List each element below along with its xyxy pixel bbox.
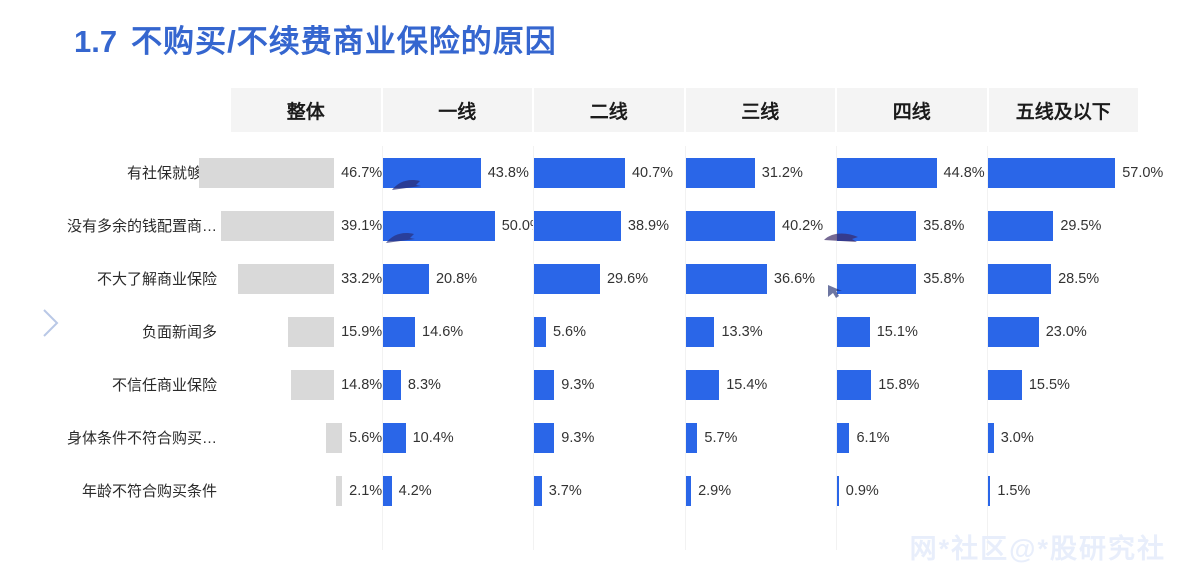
bar-tier [382, 211, 495, 241]
bar-value-label: 23.0% [1046, 324, 1087, 340]
bar-tier [685, 370, 720, 400]
bar-value-label: 9.3% [561, 377, 594, 393]
bar-overall [199, 158, 334, 188]
bar-value-label: 15.9% [341, 324, 382, 340]
bar-tier [836, 423, 850, 453]
chart-row: 年龄不符合购买条件2.1%4.2%3.7%2.9%0.9%1.5% [0, 464, 1182, 517]
column-separator [836, 146, 837, 550]
bar-tier [836, 211, 917, 241]
chart-row: 有社保就够了46.7%43.8%40.7%31.2%44.8%57.0% [0, 146, 1182, 199]
bar-value-label: 1.5% [997, 483, 1030, 499]
page-title: 1.7不购买/不续费商业保险的原因 [74, 16, 557, 61]
bar-tier [685, 211, 775, 241]
row-cells: 46.7%43.8%40.7%31.2%44.8%57.0% [231, 146, 1182, 199]
chart-cell: 2.1% [231, 464, 382, 517]
bar-value-label: 29.6% [607, 271, 648, 287]
bar-tier [836, 317, 870, 347]
chart-cell: 20.8% [382, 252, 533, 305]
chart-rows: 有社保就够了46.7%43.8%40.7%31.2%44.8%57.0%没有多余… [0, 146, 1182, 550]
chart-cell: 44.8% [836, 146, 987, 199]
row-label: 不信任商业保险 [0, 374, 231, 395]
row-cells: 2.1%4.2%3.7%2.9%0.9%1.5% [231, 464, 1182, 517]
row-label: 身体条件不符合购买… [0, 427, 231, 448]
bar-value-label: 28.5% [1058, 271, 1099, 287]
bar-value-label: 0.9% [846, 483, 879, 499]
row-label: 负面新闻多 [0, 321, 231, 342]
column-separator [533, 146, 534, 550]
row-cells: 15.9%14.6%5.6%13.3%15.1%23.0% [231, 305, 1182, 358]
chart-cell: 14.8% [231, 358, 382, 411]
chart-cell: 31.2% [685, 146, 836, 199]
bar-tier [836, 264, 917, 294]
bar-tier [382, 264, 429, 294]
row-cells: 14.8%8.3%9.3%15.4%15.8%15.5% [231, 358, 1182, 411]
bar-tier [987, 211, 1053, 241]
chart-cell: 4.2% [382, 464, 533, 517]
bar-value-label: 35.8% [923, 271, 964, 287]
bar-tier [382, 423, 405, 453]
chart-cell: 50.0% [382, 199, 533, 252]
watermark: 网*社区@*股研究社 [910, 527, 1166, 566]
chart-cell: 29.6% [533, 252, 684, 305]
column-separator [382, 146, 383, 550]
chart-cell: 15.8% [836, 358, 987, 411]
bar-value-label: 36.6% [774, 271, 815, 287]
bar-tier [987, 264, 1051, 294]
chart-cell: 35.8% [836, 252, 987, 305]
chart-cell: 38.9% [533, 199, 684, 252]
chart-row: 不大了解商业保险33.2%20.8%29.6%36.6%35.8%28.5% [0, 252, 1182, 305]
bar-value-label: 2.1% [349, 483, 382, 499]
row-cells: 5.6%10.4%9.3%5.7%6.1%3.0% [231, 411, 1182, 464]
chart-cell: 5.7% [685, 411, 836, 464]
bar-value-label: 9.3% [561, 430, 594, 446]
chart-cell: 9.3% [533, 358, 684, 411]
chart-cell: 15.1% [836, 305, 987, 358]
chart-cell: 3.0% [987, 411, 1138, 464]
bar-value-label: 35.8% [923, 218, 964, 234]
chart-cell: 6.1% [836, 411, 987, 464]
chart-row: 不信任商业保险14.8%8.3%9.3%15.4%15.8%15.5% [0, 358, 1182, 411]
chart-cell: 23.0% [987, 305, 1138, 358]
bar-value-label: 14.6% [422, 324, 463, 340]
bar-tier [533, 211, 621, 241]
bar-value-label: 6.1% [856, 430, 889, 446]
page-title-number: 1.7 [74, 24, 117, 59]
bar-overall [288, 317, 334, 347]
row-cells: 33.2%20.8%29.6%36.6%35.8%28.5% [231, 252, 1182, 305]
chart-cell: 35.8% [836, 199, 987, 252]
bar-value-label: 40.2% [782, 218, 823, 234]
chart-cell: 13.3% [685, 305, 836, 358]
bar-value-label: 57.0% [1122, 165, 1163, 181]
bar-value-label: 15.8% [878, 377, 919, 393]
chart-row: 没有多余的钱配置商…39.1%50.0%38.9%40.2%35.8%29.5% [0, 199, 1182, 252]
column-header-overall: 整体 [231, 88, 383, 132]
chart-cell: 15.5% [987, 358, 1138, 411]
bar-tier [382, 158, 481, 188]
row-cells: 39.1%50.0%38.9%40.2%35.8%29.5% [231, 199, 1182, 252]
chart-cell: 3.7% [533, 464, 684, 517]
bar-value-label: 40.7% [632, 165, 673, 181]
bar-value-label: 15.4% [726, 377, 767, 393]
bar-value-label: 3.7% [549, 483, 582, 499]
chart-cell: 46.7% [231, 146, 382, 199]
chart-cell: 57.0% [987, 146, 1138, 199]
bar-value-label: 10.4% [413, 430, 454, 446]
bar-tier [382, 370, 401, 400]
bar-tier [533, 423, 554, 453]
bar-value-label: 14.8% [341, 377, 382, 393]
bar-tier [382, 476, 391, 506]
column-header-tier1: 一线 [383, 88, 535, 132]
bar-tier [685, 317, 715, 347]
bar-overall [326, 423, 342, 453]
bar-tier [987, 317, 1039, 347]
bar-tier [836, 158, 937, 188]
bar-value-label: 15.5% [1029, 377, 1070, 393]
bar-value-label: 44.8% [944, 165, 985, 181]
chart-cell: 36.6% [685, 252, 836, 305]
chart-cell: 29.5% [987, 199, 1138, 252]
chart-cell: 5.6% [231, 411, 382, 464]
chart-cell: 40.2% [685, 199, 836, 252]
bar-value-label: 38.9% [628, 218, 669, 234]
chart-cell: 40.7% [533, 146, 684, 199]
column-header-tier4: 四线 [837, 88, 989, 132]
bar-value-label: 2.9% [698, 483, 731, 499]
chart-cell: 8.3% [382, 358, 533, 411]
bar-value-label: 43.8% [488, 165, 529, 181]
bar-overall [336, 476, 342, 506]
column-separator [987, 146, 988, 550]
bar-value-label: 5.6% [553, 324, 586, 340]
bar-tier [533, 476, 541, 506]
bar-value-label: 5.6% [349, 430, 382, 446]
bar-value-label: 39.1% [341, 218, 382, 234]
column-header-tier3: 三线 [686, 88, 838, 132]
bar-tier [382, 317, 415, 347]
bar-tier [987, 158, 1115, 188]
chart-cell: 0.9% [836, 464, 987, 517]
bar-tier [533, 264, 600, 294]
bar-overall [291, 370, 334, 400]
bar-tier [836, 370, 872, 400]
bar-value-label: 15.1% [877, 324, 918, 340]
row-label: 年龄不符合购买条件 [0, 480, 231, 501]
bar-value-label: 5.7% [704, 430, 737, 446]
bar-value-label: 31.2% [762, 165, 803, 181]
bar-value-label: 13.3% [721, 324, 762, 340]
chart-cell: 5.6% [533, 305, 684, 358]
chart-cell: 9.3% [533, 411, 684, 464]
bar-overall [238, 264, 334, 294]
bar-value-label: 33.2% [341, 271, 382, 287]
bar-tier [533, 317, 546, 347]
chart-column-headers: 整体 一线 二线 三线 四线 五线及以下 [231, 88, 1138, 132]
bar-tier [987, 370, 1022, 400]
chart-cell: 2.9% [685, 464, 836, 517]
bar-overall [221, 211, 334, 241]
chart-cell: 15.9% [231, 305, 382, 358]
row-label: 有社保就够了 [0, 162, 231, 183]
bar-tier [685, 264, 767, 294]
bar-tier [533, 158, 625, 188]
row-label: 没有多余的钱配置商… [0, 215, 231, 236]
row-label: 不大了解商业保险 [0, 268, 231, 289]
chart-row: 身体条件不符合购买…5.6%10.4%9.3%5.7%6.1%3.0% [0, 411, 1182, 464]
bar-value-label: 29.5% [1060, 218, 1101, 234]
bar-value-label: 8.3% [408, 377, 441, 393]
bar-tier [685, 158, 755, 188]
chart-cell: 15.4% [685, 358, 836, 411]
bar-value-label: 46.7% [341, 165, 382, 181]
chart-row: 负面新闻多15.9%14.6%5.6%13.3%15.1%23.0% [0, 305, 1182, 358]
chart-cell: 33.2% [231, 252, 382, 305]
bar-value-label: 20.8% [436, 271, 477, 287]
bar-tier [533, 370, 554, 400]
column-header-tier5: 五线及以下 [989, 88, 1139, 132]
bar-value-label: 3.0% [1001, 430, 1034, 446]
column-header-tier2: 二线 [534, 88, 686, 132]
chart-cell: 10.4% [382, 411, 533, 464]
bar-tier [685, 423, 698, 453]
page-title-text: 不购买/不续费商业保险的原因 [131, 24, 557, 59]
chart-cell: 43.8% [382, 146, 533, 199]
chart-cell: 28.5% [987, 252, 1138, 305]
chart-cell: 39.1% [231, 199, 382, 252]
chart-cell: 1.5% [987, 464, 1138, 517]
column-separator [685, 146, 686, 550]
bar-value-label: 4.2% [399, 483, 432, 499]
reasons-bar-chart: 整体 一线 二线 三线 四线 五线及以下 有社保就够了46.7%43.8%40.… [0, 88, 1182, 550]
chart-cell: 14.6% [382, 305, 533, 358]
